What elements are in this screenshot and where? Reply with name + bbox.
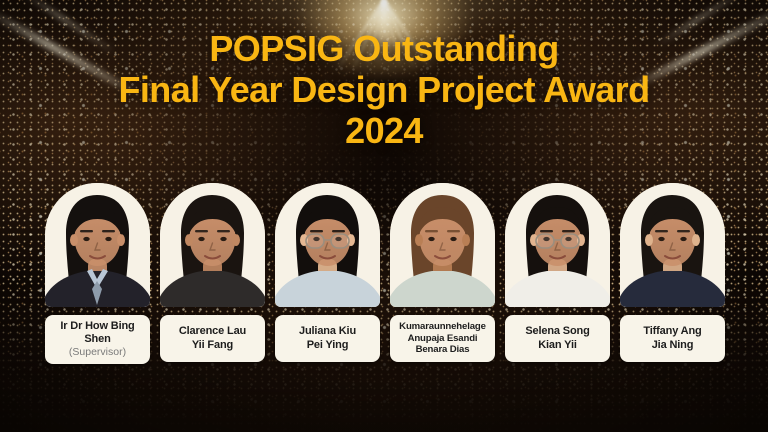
awardee-item: KumaraunnehelageAnupaja EsandiBenara Dia…: [390, 183, 495, 364]
awardee-name-card: KumaraunnehelageAnupaja EsandiBenara Dia…: [390, 315, 495, 362]
title-line-1: POPSIG Outstanding: [0, 28, 768, 69]
awardee-list: Ir Dr How BingShen(Supervisor): [45, 183, 726, 364]
awardee-item: Selena SongKian Yii: [505, 183, 610, 364]
award-poster: POPSIG Outstanding Final Year Design Pro…: [0, 0, 768, 432]
portrait-kumaraunnehelage-anupaja-esandi-benara-dias: [390, 183, 495, 307]
title-line-3: 2024: [0, 110, 768, 151]
awardee-name-card: Clarence LauYii Fang: [160, 315, 265, 362]
awardee-name-line: Shen: [84, 333, 110, 346]
awardee-item: Tiffany AngJia Ning: [620, 183, 725, 364]
awardee-name-line: Ir Dr How Bing: [60, 320, 134, 333]
awardee-name-line: Clarence Lau: [179, 325, 246, 338]
portrait-juliana-kiu-pei-ying: [275, 183, 380, 307]
title-line-2: Final Year Design Project Award: [0, 69, 768, 110]
awardee-item: Clarence LauYii Fang: [160, 183, 265, 364]
awardee-name-line: Benara Dias: [416, 344, 470, 356]
portrait-selena-song-kian-yii: [505, 183, 610, 307]
awardee-name-line: Tiffany Ang: [643, 325, 701, 338]
awardee-item: Juliana KiuPei Ying: [275, 183, 380, 364]
page-title: POPSIG Outstanding Final Year Design Pro…: [0, 28, 768, 151]
awardee-name-line: Pei Ying: [307, 339, 349, 352]
awardee-name-line: Jia Ning: [652, 339, 694, 352]
portrait-how-bing-shen: [45, 183, 150, 307]
awardee-name-card: Ir Dr How BingShen(Supervisor): [45, 315, 150, 364]
awardee-name-line: Selena Song: [525, 325, 589, 338]
awardee-name-card: Tiffany AngJia Ning: [620, 315, 725, 362]
awardee-role: (Supervisor): [69, 346, 126, 359]
awardee-name-line: Anupaja Esandi: [408, 333, 478, 345]
portrait-clarence-lau-yii-fang: [160, 183, 265, 307]
awardee-name-line: Juliana Kiu: [299, 325, 356, 338]
awardee-name-line: Kian Yii: [538, 339, 577, 352]
awardee-name-line: Yii Fang: [192, 339, 233, 352]
awardee-name-card: Juliana KiuPei Ying: [275, 315, 380, 362]
awardee-name-line: Kumaraunnehelage: [399, 321, 486, 333]
awardee-name-card: Selena SongKian Yii: [505, 315, 610, 362]
awardee-item: Ir Dr How BingShen(Supervisor): [45, 183, 150, 364]
portrait-tiffany-ang-jia-ning: [620, 183, 725, 307]
